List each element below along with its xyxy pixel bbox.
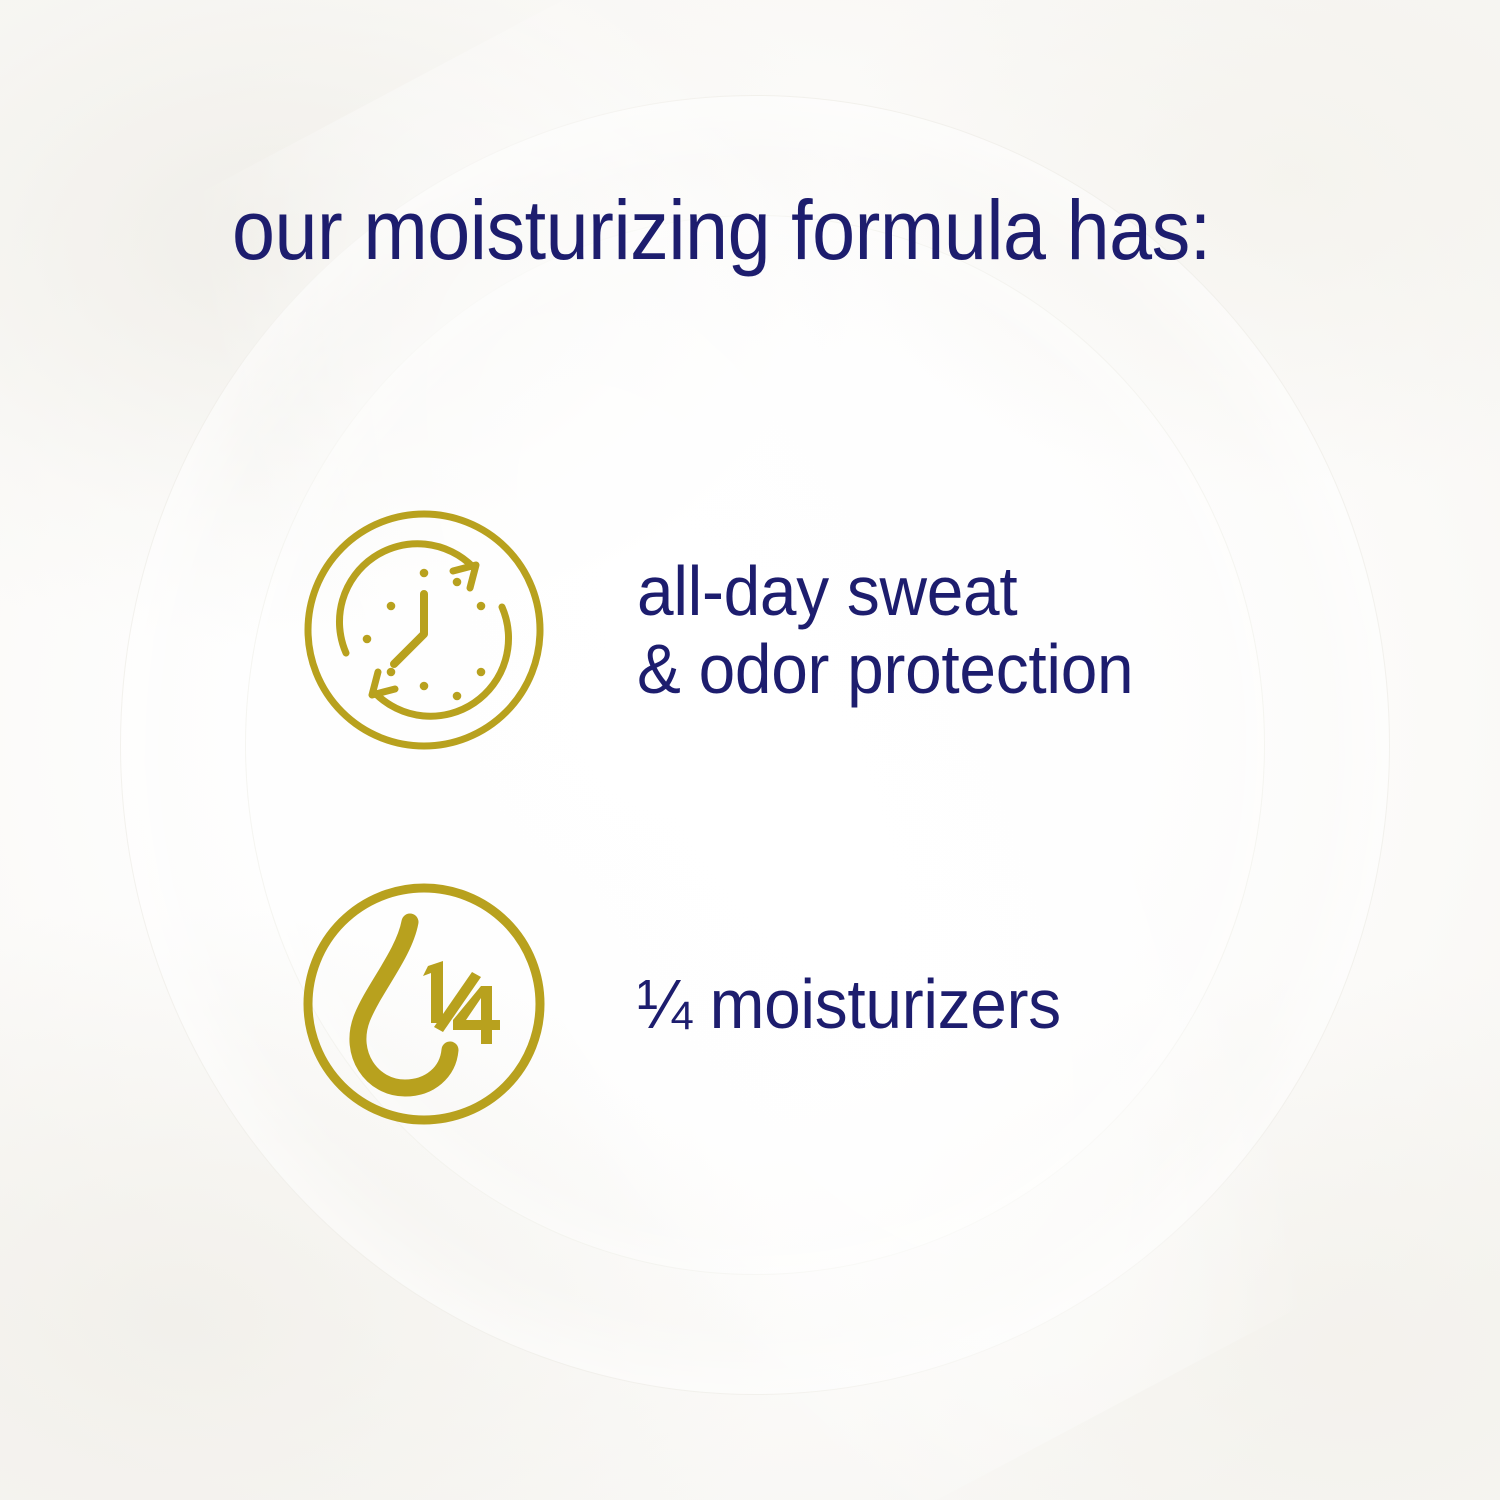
product-claims-panel: our moisturizing formula has: bbox=[0, 0, 1500, 1500]
clock-refresh-icon bbox=[300, 506, 548, 754]
feature-label-all-day-protection: all-day sweat & odor protection bbox=[637, 552, 1133, 708]
quarter-droplet-icon bbox=[300, 880, 548, 1128]
feature-label-moisturizers: ¼ moisturizers bbox=[637, 965, 1061, 1043]
feature-row-moisturizers: ¼ moisturizers bbox=[300, 880, 1088, 1128]
page-title: our moisturizing formula has: bbox=[232, 188, 1211, 272]
feature-row-all-day-protection: all-day sweat & odor protection bbox=[300, 506, 1165, 754]
